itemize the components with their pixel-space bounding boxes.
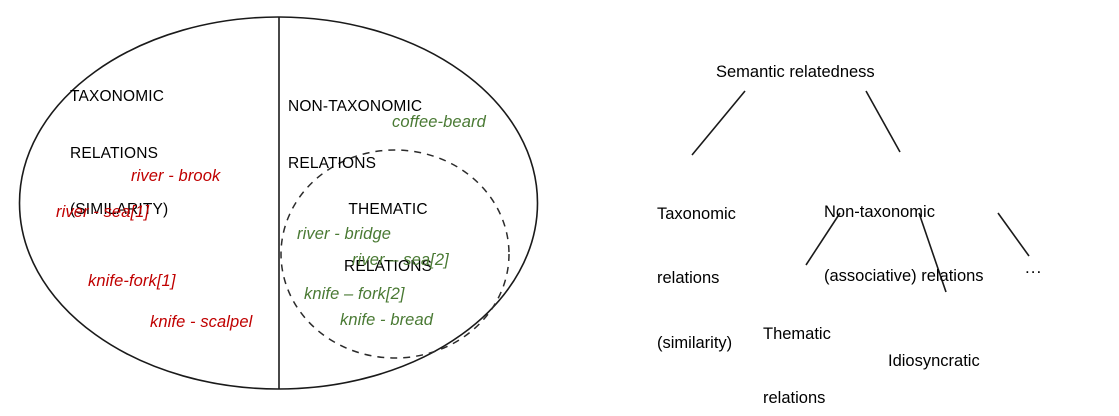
taxonomic-example-river-brook: river - brook [131, 166, 220, 186]
taxonomic-example-knife-fork: knife-fork[1] [88, 271, 176, 291]
taxonomic-example-knife-scalpel: knife - scalpel [150, 312, 252, 332]
tree-node-nontaxonomic-line-1: Non-taxonomic [824, 202, 984, 223]
thematic-heading-line-1: THEMATIC [344, 201, 432, 220]
tree-node-idiosyncratic-line-1: Idiosyncratic [888, 351, 980, 372]
taxonomic-region-heading: TAXONOMIC RELATIONS (SIMILARITY) [70, 50, 168, 258]
tree-node-idiosyncratic-memories: Idiosyncratic memories [888, 308, 980, 416]
tree-node-taxonomic-line-3: (similarity) [657, 333, 736, 354]
tree-edge-nontaxonomic-to-ellipsis [998, 213, 1029, 256]
semantic-relatedness-figure: TAXONOMIC RELATIONS (SIMILARITY) river -… [0, 0, 1119, 416]
taxonomic-heading-line-1: TAXONOMIC [70, 88, 168, 107]
tree-node-thematic-line-1: Thematic [763, 324, 831, 345]
tree-node-root: Semantic relatedness [716, 62, 875, 83]
thematic-example-knife-bread: knife - bread [340, 310, 433, 330]
tree-node-thematic-line-2: relations [763, 388, 831, 409]
nontaxonomic-example-coffee-beard: coffee-beard [392, 112, 486, 132]
tree-edge-root-to-nontaxonomic [866, 91, 900, 152]
thematic-example-knife-fork: knife – fork[2] [304, 284, 405, 304]
taxonomic-heading-line-2: RELATIONS [70, 145, 168, 164]
thematic-example-river-sea: river – sea[2] [352, 250, 449, 270]
tree-edge-root-to-taxonomic [692, 91, 745, 155]
tree-node-nontaxonomic-line-2: (associative) relations [824, 266, 984, 287]
tree-node-taxonomic-line-2: relations [657, 268, 736, 289]
taxonomic-example-river-sea: river - sea[1] [56, 202, 149, 222]
tree-node-thematic-relations: Thematic relations [763, 281, 831, 416]
tree-node-ellipsis: ... [1025, 258, 1042, 279]
tree-node-taxonomic-relations: Taxonomic relations (similarity) [657, 161, 736, 397]
thematic-example-river-bridge: river - bridge [297, 224, 391, 244]
tree-node-taxonomic-line-1: Taxonomic [657, 204, 736, 225]
tree-node-nontaxonomic-relations: Non-taxonomic (associative) relations [824, 159, 984, 331]
